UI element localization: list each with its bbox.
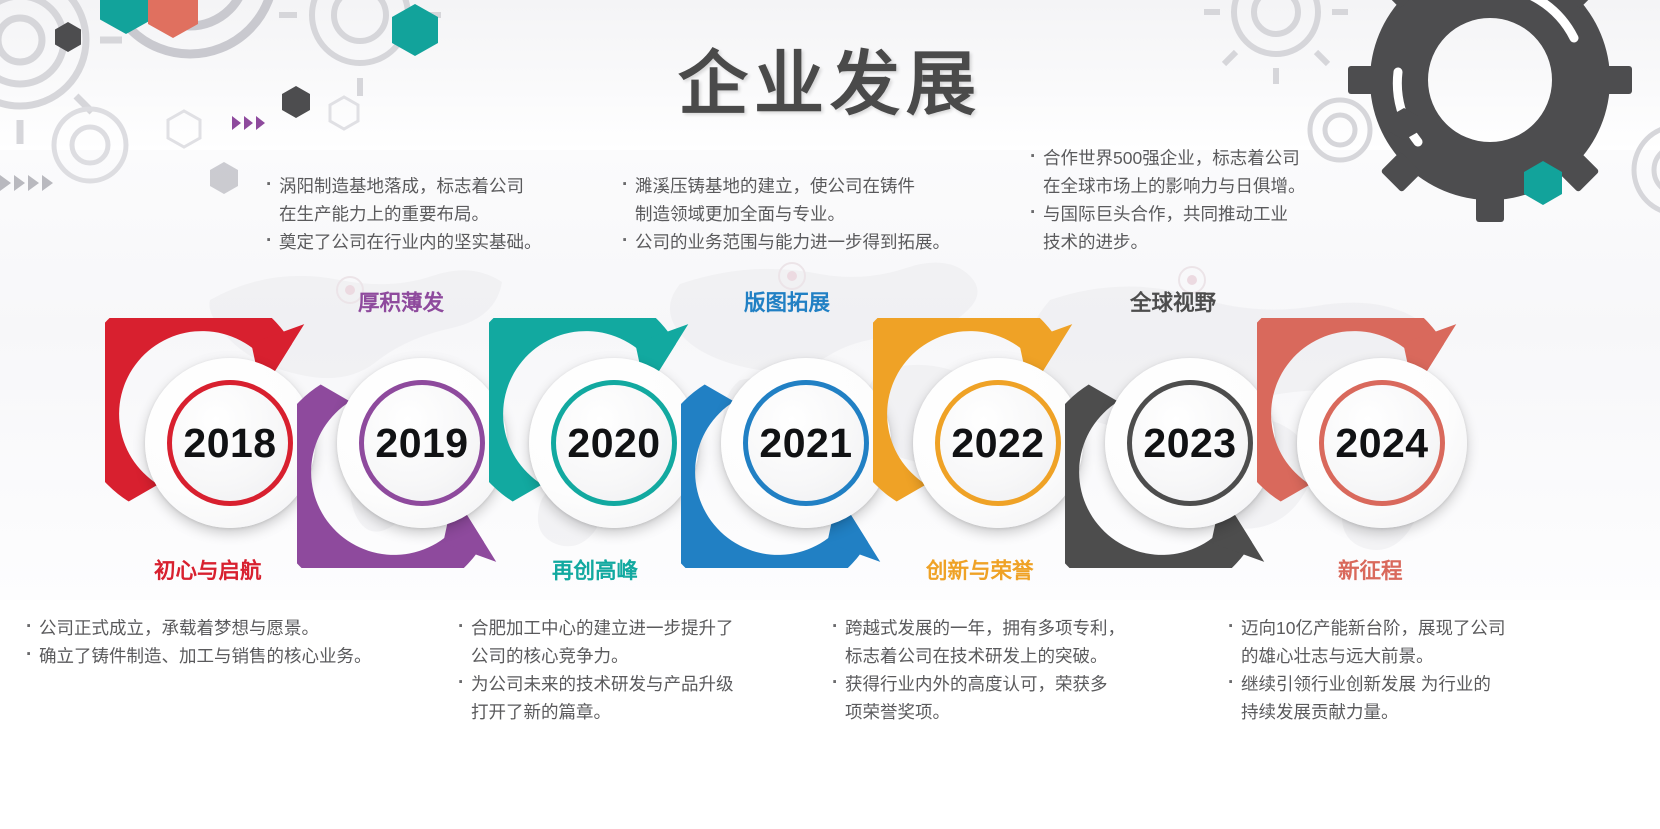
detail-block-2018: 公司正式成立，承载着梦想与愿景。 确立了铸件制造、加工与销售的核心业务。 — [26, 614, 446, 670]
milestone-inner-ring: 2021 — [743, 380, 869, 506]
detail-block-2023: 合作世界500强企业，标志着公司 在全球市场上的影响力与日俱增。 与国际巨头合作… — [1030, 144, 1350, 256]
detail-line: 与国际巨头合作，共同推动工业 技术的进步。 — [1030, 200, 1350, 256]
headline-2021: 版图拓展 — [744, 286, 830, 317]
detail-block-2022: 跨越式发展的一年，拥有多项专利， 标志着公司在技术研发上的突破。 获得行业内外的… — [832, 614, 1162, 726]
detail-line: 合作世界500强企业，标志着公司 在全球市场上的影响力与日俱增。 — [1030, 144, 1350, 200]
detail-line: 迈向10亿产能新台阶，展现了公司 的雄心壮志与远大前景。 — [1228, 614, 1558, 670]
milestone-inner-ring: 2022 — [935, 380, 1061, 506]
detail-line: 合肥加工中心的建立进一步提升了 公司的核心竞争力。 — [458, 614, 778, 670]
milestone-year-label: 2023 — [1143, 420, 1236, 467]
milestone-inner-ring: 2023 — [1127, 380, 1253, 506]
detail-block-2021: 濉溪压铸基地的建立，使公司在铸件 制造领域更加全面与专业。 公司的业务范围与能力… — [622, 172, 982, 256]
detail-line: 确立了铸件制造、加工与销售的核心业务。 — [26, 642, 446, 670]
detail-line: 公司的业务范围与能力进一步得到拓展。 — [622, 228, 982, 256]
milestone-year-label: 2022 — [951, 420, 1044, 467]
detail-line: 濉溪压铸基地的建立，使公司在铸件 制造领域更加全面与专业。 — [622, 172, 982, 228]
detail-block-2020: 合肥加工中心的建立进一步提升了 公司的核心竞争力。 为公司未来的技术研发与产品升… — [458, 614, 778, 726]
detail-line: 奠定了公司在行业内的坚实基础。 — [266, 228, 566, 256]
detail-line: 为公司未来的技术研发与产品升级 打开了新的篇章。 — [458, 670, 778, 726]
headline-2019: 厚积薄发 — [358, 286, 444, 317]
headline-2023: 全球视野 — [1130, 286, 1216, 317]
milestone-inner-ring: 2024 — [1319, 380, 1445, 506]
detail-line: 跨越式发展的一年，拥有多项专利， 标志着公司在技术研发上的突破。 — [832, 614, 1162, 670]
milestone-year-label: 2024 — [1335, 420, 1428, 467]
quad-arrow-marker-gray — [0, 172, 64, 194]
page-title: 企业发展 — [0, 28, 1660, 129]
slide-canvas: 企业发展 涡阳制造基地落成，标志着公司 在生产能力上的重要布局。 奠定了公司在行… — [0, 0, 1660, 829]
milestone-inner-ring: 2018 — [167, 380, 293, 506]
detail-line: 涡阳制造基地落成，标志着公司 在生产能力上的重要布局。 — [266, 172, 566, 228]
detail-line: 继续引领行业创新发展 为行业的 持续发展贡献力量。 — [1228, 670, 1558, 726]
milestone-node-2024[interactable]: 2024 — [1257, 318, 1507, 568]
milestone-inner-ring: 2019 — [359, 380, 485, 506]
detail-line: 公司正式成立，承载着梦想与愿景。 — [26, 614, 446, 642]
milestone-year-label: 2021 — [759, 420, 852, 467]
milestone-year-label: 2020 — [567, 420, 660, 467]
detail-block-2019: 涡阳制造基地落成，标志着公司 在生产能力上的重要布局。 奠定了公司在行业内的坚实… — [266, 172, 566, 256]
milestone-inner-ring: 2020 — [551, 380, 677, 506]
detail-line: 获得行业内外的高度认可，荣获多 项荣誉奖项。 — [832, 670, 1162, 726]
milestone-year-label: 2019 — [375, 420, 468, 467]
detail-block-2024: 迈向10亿产能新台阶，展现了公司 的雄心壮志与远大前景。 继续引领行业创新发展 … — [1228, 614, 1558, 726]
timeline-track: 2018201920202021202220232024 — [0, 318, 1660, 568]
milestone-year-label: 2018 — [183, 420, 276, 467]
